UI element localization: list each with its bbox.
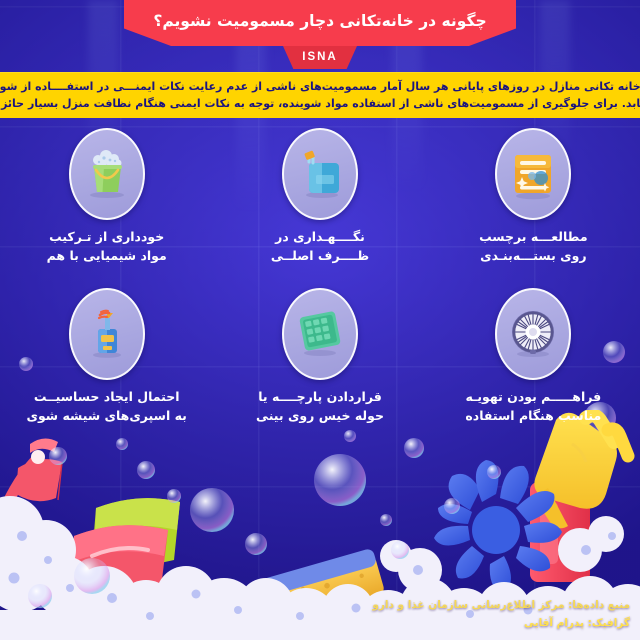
infographic-page: چگونه در خانه‌تکانی دچار مسمومیت نشویم؟ …	[0, 0, 640, 640]
credits: منبع داده‌ها: مرکز اطلاع‌رسانی سازمان غذ…	[372, 597, 630, 632]
tip-item-no-mixing-chemicals[interactable]: خودداری از تـرکیب مواد شیمیایی با هم	[0, 128, 213, 280]
tip-caption-line-1: فراهـــــم بودن تهویـه	[465, 388, 601, 407]
tip-caption-line-2: مواد شیمیایی با هم	[47, 247, 167, 266]
tip-caption-line-2: به اسپری‌های شیشه شوی	[27, 407, 187, 426]
lead-line-2: افزایش می‌یابد. برای جلوگیری از مسمومیت‌…	[0, 96, 640, 113]
tip-caption: قراردادن پارچــــه یا حوله خیس روی بینی	[256, 388, 384, 426]
tip-item-wet-cloth[interactable]: قراردادن پارچــــه یا حوله خیس روی بینی	[213, 288, 426, 440]
tip-item-original-container[interactable]: نگــــهـداری در ظــــرف اصلــی	[213, 128, 426, 280]
tips-grid: مطالعـــه برچسب روی بستـــه‌بنـدی نگــــ…	[0, 128, 640, 440]
credit-graphic: گرافیک: پدرام آقایی	[372, 615, 630, 632]
lead-paragraph-band: با شروع خانه تکانی منازل در روزهای پایان…	[0, 72, 640, 118]
tip-caption-line-2: حوله خیس روی بینی	[256, 407, 384, 426]
spray-bottle-icon	[69, 288, 145, 380]
tip-caption-line-2: مناسب هنگام استفاده	[465, 407, 601, 426]
tip-caption: خودداری از تـرکیب مواد شیمیایی با هم	[47, 228, 167, 266]
cloth-square-icon	[282, 288, 358, 380]
tip-caption-line-2: روی بستـــه‌بنـدی	[479, 247, 588, 266]
tip-item-glass-spray-allergy[interactable]: احتمال ایجاد حساسیــت به اسپری‌های شیشه …	[0, 288, 213, 440]
ventilation-fan-icon	[495, 288, 571, 380]
tip-caption-line-2: ظــــرف اصلــی	[271, 247, 369, 266]
tip-caption: احتمال ایجاد حساسیــت به اسپری‌های شیشه …	[27, 388, 187, 426]
tip-caption: فراهـــــم بودن تهویـه مناسب هنگام استفا…	[465, 388, 601, 426]
red-duster-illustration	[8, 438, 62, 502]
tip-caption-line-1: مطالعـــه برچسب	[479, 228, 588, 247]
tip-caption-line-1: خودداری از تـرکیب	[47, 228, 167, 247]
isna-logo-text: ISNA	[302, 51, 337, 65]
title-banner: چگونه در خانه‌تکانی دچار مسمومیت نشویم؟	[124, 0, 516, 46]
tip-item-label-package[interactable]: مطالعـــه برچسب روی بستـــه‌بنـدی	[427, 128, 640, 280]
tip-caption: مطالعـــه برچسب روی بستـــه‌بنـدی	[479, 228, 588, 266]
label-package-icon	[495, 128, 571, 220]
tip-caption-line-1: نگــــهـداری در	[271, 228, 369, 247]
lead-line-1: با شروع خانه تکانی منازل در روزهای پایان…	[0, 79, 640, 96]
tip-caption-line-1: احتمال ایجاد حساسیــت	[27, 388, 187, 407]
tip-caption: نگــــهـداری در ظــــرف اصلــی	[271, 228, 369, 266]
page-title: چگونه در خانه‌تکانی دچار مسمومیت نشویم؟	[153, 12, 486, 35]
foam-bucket-icon	[69, 128, 145, 220]
credit-source: منبع داده‌ها: مرکز اطلاع‌رسانی سازمان غذ…	[372, 597, 630, 614]
tip-item-ventilation[interactable]: فراهـــــم بودن تهویـه مناسب هنگام استفا…	[427, 288, 640, 440]
tip-caption-line-1: قراردادن پارچــــه یا	[256, 388, 384, 407]
isna-logo-tag: ISNA	[283, 46, 357, 69]
detergent-jug-icon	[282, 128, 358, 220]
